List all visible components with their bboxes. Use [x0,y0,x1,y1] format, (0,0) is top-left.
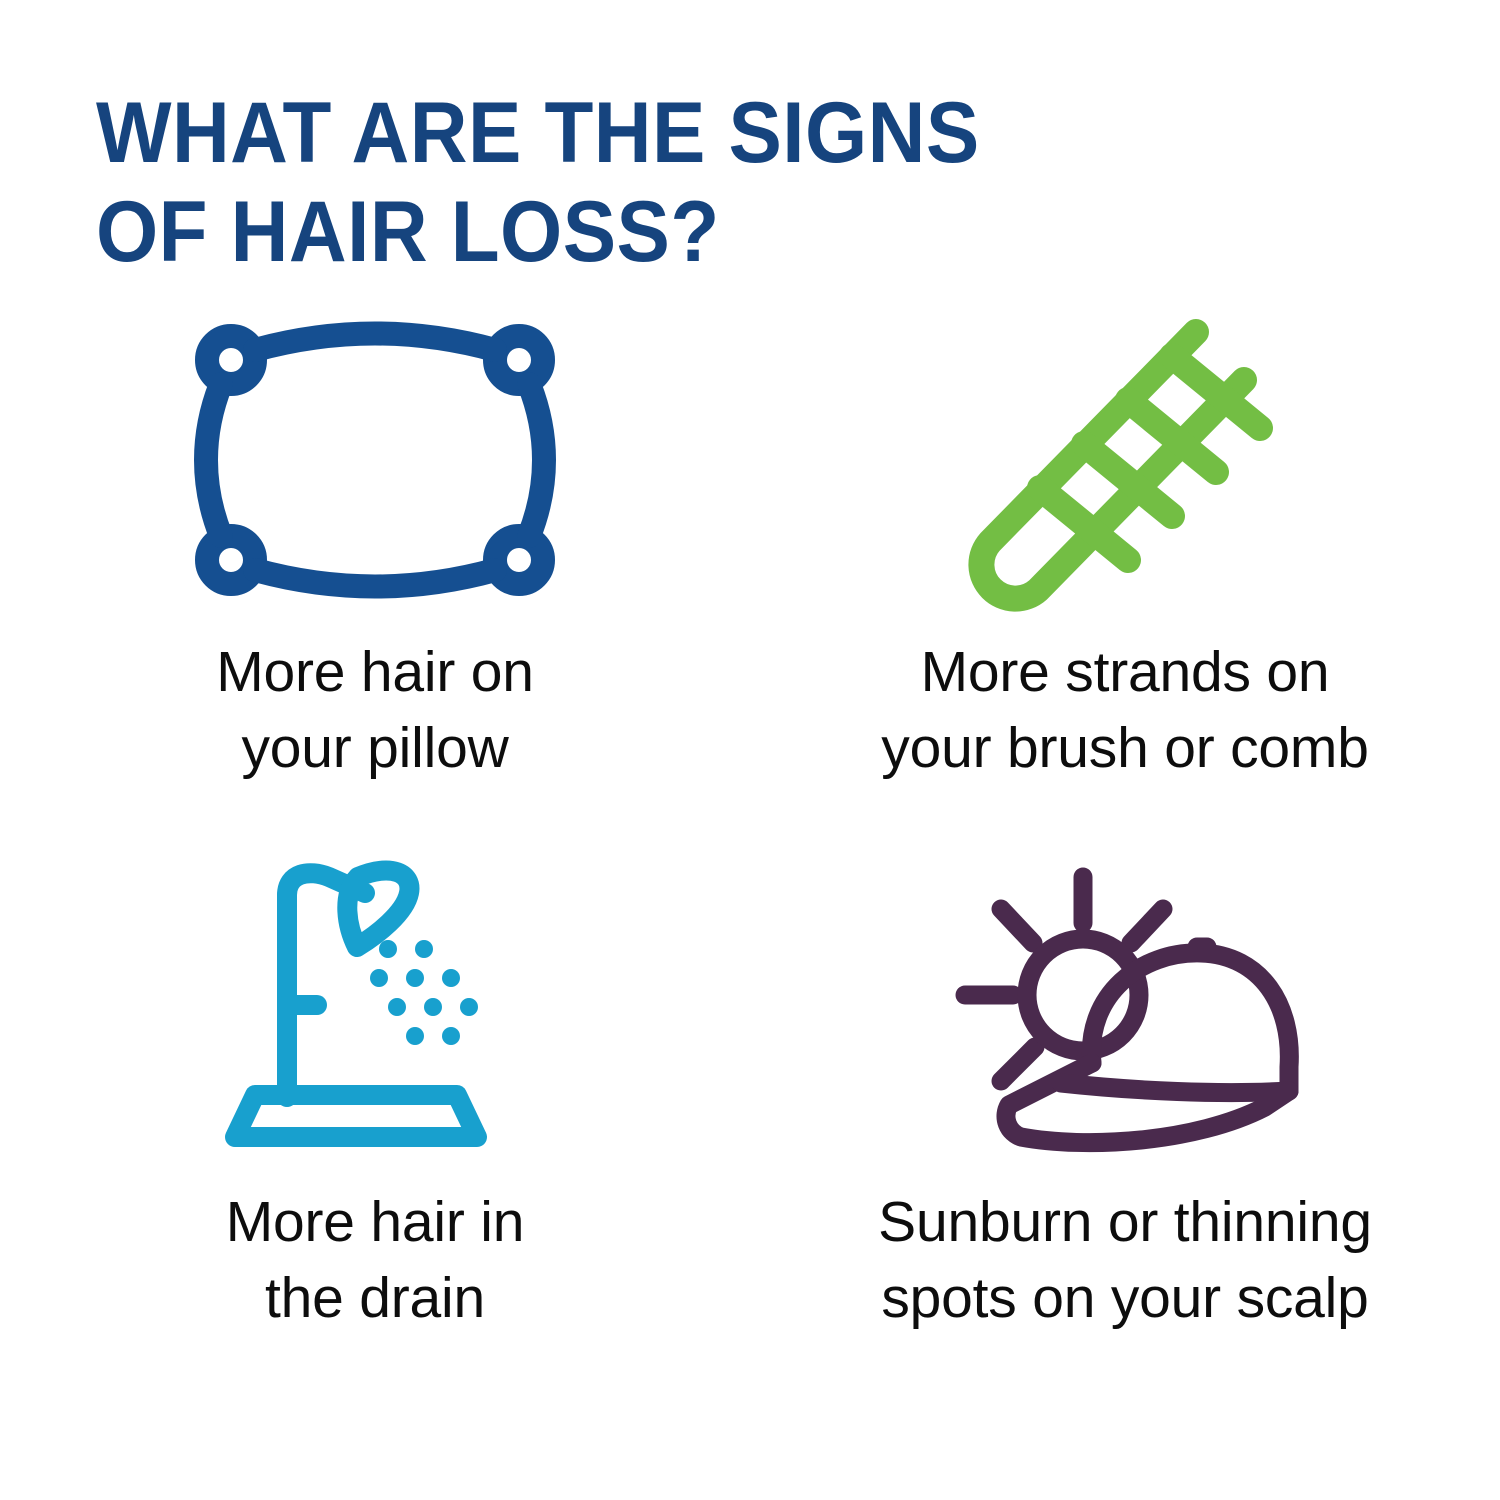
sign-card-shower: More hair in the drain [0,840,750,1380]
shower-icon [0,840,750,1170]
infographic-poster: WHAT ARE THE SIGNS OF HAIR LOSS? [0,0,1500,1500]
comb-icon-svg [960,310,1290,610]
sun-cap-icon [750,840,1500,1170]
sign-caption-shower: More hair in the drain [204,1184,547,1336]
cap-brim-icon [1006,1063,1289,1143]
page-title: WHAT ARE THE SIGNS OF HAIR LOSS? [96,84,1276,282]
signs-grid: More hair on your pillow More strands on… [0,300,1500,1380]
pillow-icon [0,300,750,620]
sign-card-comb: More strands on your brush or comb [750,300,1500,840]
page-title-line-1: WHAT ARE THE SIGNS [96,84,1193,183]
sign-card-sun-cap: Sunburn or thinning spots on your scalp [750,840,1500,1380]
page-title-line-2: OF HAIR LOSS? [96,183,1193,282]
water-droplets [370,940,478,1045]
sign-card-pillow: More hair on your pillow [0,300,750,840]
sun-cap-icon-svg [945,855,1305,1155]
comb-icon [750,300,1500,620]
pillow-icon-svg [195,324,555,596]
sign-caption-pillow: More hair on your pillow [194,634,556,786]
shower-icon-svg [225,855,525,1155]
sun-disc-icon [1027,939,1139,1051]
sign-caption-comb: More strands on your brush or comb [859,634,1390,786]
sign-caption-sun-cap: Sunburn or thinning spots on your scalp [856,1184,1394,1336]
